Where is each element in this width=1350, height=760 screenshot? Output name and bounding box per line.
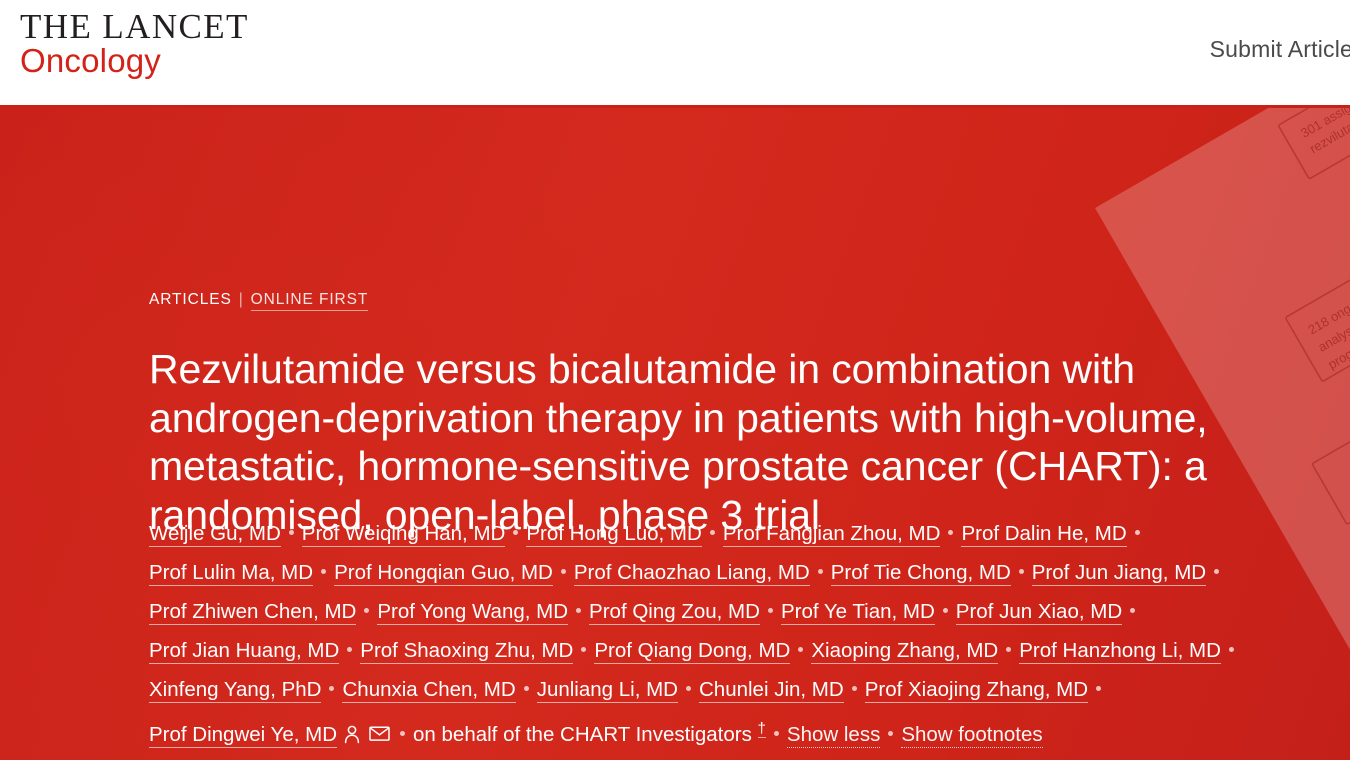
person-icon[interactable] <box>343 724 361 744</box>
author-link[interactable]: Prof Dalin He, MD <box>961 522 1126 547</box>
author-separator-dot <box>798 647 803 652</box>
breadcrumb-status-online-first[interactable]: ONLINE FIRST <box>251 291 369 311</box>
author-separator-dot <box>576 608 581 613</box>
breadcrumb-section-articles[interactable]: ARTICLES <box>149 291 232 308</box>
lancet-oncology-logo[interactable]: THE LANCET Oncology <box>20 8 249 79</box>
author-separator-dot <box>768 608 773 613</box>
author-link[interactable]: Chunlei Jin, MD <box>699 678 844 703</box>
author-separator-dot <box>710 530 715 535</box>
logo-line-the-lancet: THE LANCET <box>20 8 249 45</box>
author-link[interactable]: Prof Tie Chong, MD <box>831 561 1011 586</box>
author-link[interactable]: Prof Weiqing Han, MD <box>302 522 506 547</box>
author-row-corresponding: Prof Dingwei Ye, MDon behalf of the CHAR… <box>149 709 1239 754</box>
author-link[interactable]: Prof Jun Jiang, MD <box>1032 561 1206 586</box>
breadcrumb-separator: | <box>239 291 244 308</box>
author-separator-dot <box>852 686 857 691</box>
author-link[interactable]: Chunxia Chen, MD <box>342 678 515 703</box>
show-footnotes-toggle[interactable]: Show footnotes <box>901 723 1042 748</box>
author-separator-dot <box>329 686 334 691</box>
author-separator-dot <box>948 530 953 535</box>
author-separator-dot <box>1214 569 1219 574</box>
author-separator-dot <box>289 530 294 535</box>
author-separator-dot <box>686 686 691 691</box>
author-link[interactable]: Xinfeng Yang, PhD <box>149 678 321 703</box>
author-separator-dot <box>364 608 369 613</box>
author-separator-dot <box>1135 530 1140 535</box>
author-link[interactable]: Prof Ye Tian, MD <box>781 600 935 625</box>
author-row: Prof Jian Huang, MDProf Shaoxing Zhu, MD… <box>149 631 1239 670</box>
author-separator-dot <box>1019 569 1024 574</box>
author-separator-dot <box>1006 647 1011 652</box>
breadcrumb: ARTICLES|ONLINE FIRST <box>149 291 368 309</box>
logo-line-oncology: Oncology <box>20 43 249 79</box>
author-separator-dot <box>774 731 779 736</box>
author-link[interactable]: Xiaoping Zhang, MD <box>811 639 998 664</box>
group-credit-text: on behalf of the CHART Investigators <box>413 723 752 746</box>
author-separator-dot <box>321 569 326 574</box>
author-link[interactable]: Prof Hanzhong Li, MD <box>1019 639 1221 664</box>
author-row: Weijie Gu, MDProf Weiqing Han, MDProf Ho… <box>149 514 1239 553</box>
show-less-toggle[interactable]: Show less <box>787 723 880 748</box>
author-row: Xinfeng Yang, PhDChunxia Chen, MDJunlian… <box>149 670 1239 709</box>
author-link[interactable]: Prof Xiaojing Zhang, MD <box>865 678 1088 703</box>
author-link[interactable]: Prof Zhiwen Chen, MD <box>149 600 356 625</box>
author-separator-dot <box>1096 686 1101 691</box>
author-separator-dot <box>943 608 948 613</box>
author-separator-dot <box>561 569 566 574</box>
author-separator-dot <box>347 647 352 652</box>
author-row: Prof Zhiwen Chen, MDProf Yong Wang, MDPr… <box>149 592 1239 631</box>
author-link[interactable]: Prof Lulin Ma, MD <box>149 561 313 586</box>
author-link[interactable]: Prof Hong Luo, MD <box>526 522 701 547</box>
article-hero-banner: 301 assigned to rezvilutamide group 218 … <box>0 108 1350 760</box>
footnote-dagger-marker[interactable]: † <box>758 720 766 738</box>
author-link[interactable]: Weijie Gu, MD <box>149 522 281 547</box>
author-separator-dot <box>581 647 586 652</box>
page-title: Rezvilutamide versus bicalutamide in com… <box>149 345 1264 539</box>
author-list: Weijie Gu, MDProf Weiqing Han, MDProf Ho… <box>149 514 1239 754</box>
submit-article-link[interactable]: Submit Article <box>1210 36 1350 63</box>
site-header: THE LANCET Oncology Submit Article <box>0 0 1350 108</box>
author-separator-dot <box>1229 647 1234 652</box>
author-link[interactable]: Prof Yong Wang, MD <box>377 600 568 625</box>
author-row: Prof Lulin Ma, MDProf Hongqian Guo, MDPr… <box>149 553 1239 592</box>
author-link[interactable]: Prof Shaoxing Zhu, MD <box>360 639 573 664</box>
author-link[interactable]: Prof Jian Huang, MD <box>149 639 339 664</box>
author-separator-dot <box>400 731 405 736</box>
author-link[interactable]: Prof Qing Zou, MD <box>589 600 760 625</box>
author-link[interactable]: Junliang Li, MD <box>537 678 678 703</box>
author-separator-dot <box>818 569 823 574</box>
author-separator-dot <box>524 686 529 691</box>
author-separator-dot <box>1130 608 1135 613</box>
author-link[interactable]: Prof Qiang Dong, MD <box>594 639 790 664</box>
author-link[interactable]: Prof Hongqian Guo, MD <box>334 561 553 586</box>
envelope-icon[interactable] <box>369 725 390 742</box>
author-link[interactable]: Prof Jun Xiao, MD <box>956 600 1122 625</box>
author-link[interactable]: Prof Chaozhao Liang, MD <box>574 561 810 586</box>
author-separator-dot <box>888 731 893 736</box>
author-separator-dot <box>513 530 518 535</box>
corresponding-author-link[interactable]: Prof Dingwei Ye, MD <box>149 723 337 748</box>
author-link[interactable]: Prof Fangjian Zhou, MD <box>723 522 941 547</box>
